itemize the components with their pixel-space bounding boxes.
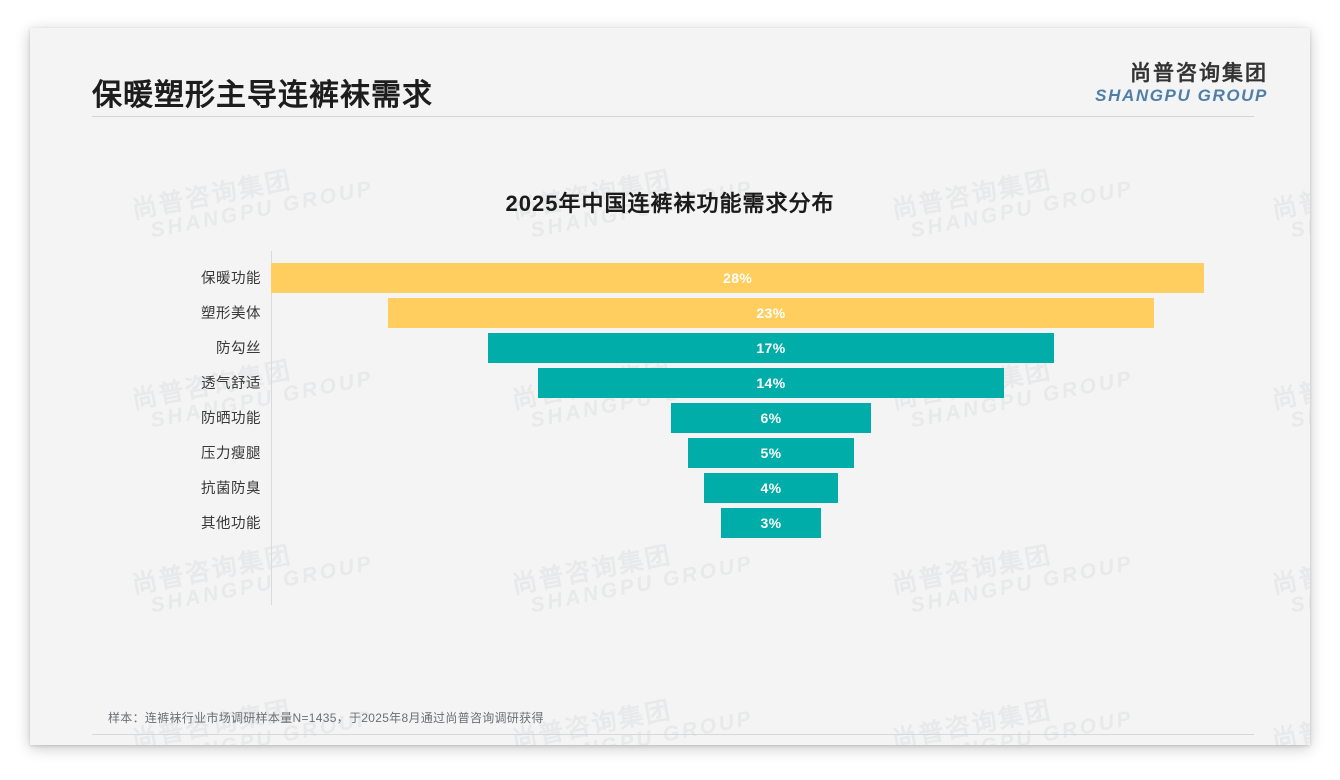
bar-track: 4% xyxy=(271,470,1271,505)
website-link[interactable]: www.shangpu-china.com xyxy=(1128,743,1268,745)
category-label: 防晒功能 xyxy=(30,407,261,428)
title-divider xyxy=(92,116,1254,117)
bar-track: 3% xyxy=(271,505,1271,540)
sample-footnote: 样本：连裤袜行业市场调研样本量N=1435，于2025年8月通过尚普咨询调研获得 xyxy=(108,709,544,726)
page-title: 保暖塑形主导连裤袜需求 xyxy=(92,70,433,114)
bar-track: 28% xyxy=(271,260,1271,295)
funnel-chart-plot: 保暖功能28%塑形美体23%防勾丝17%透气舒适14%防晒功能6%压力瘦腿5%抗… xyxy=(30,260,1310,560)
funnel-row: 防勾丝17% xyxy=(30,330,1310,365)
copyright-text: ©2025.10 SHANGPU GROUP xyxy=(92,743,261,745)
bar-value-label: 14% xyxy=(756,375,785,391)
category-label: 其他功能 xyxy=(30,512,261,533)
funnel-bar[interactable]: 6% xyxy=(671,403,871,433)
funnel-bar[interactable]: 17% xyxy=(488,333,1055,363)
chart-title: 2025年中国连裤袜功能需求分布 xyxy=(30,186,1310,218)
bar-track: 17% xyxy=(271,330,1271,365)
funnel-bar[interactable]: 28% xyxy=(271,263,1204,293)
category-label: 塑形美体 xyxy=(30,302,261,323)
funnel-row: 抗菌防臭4% xyxy=(30,470,1310,505)
bar-track: 14% xyxy=(271,365,1271,400)
funnel-row: 透气舒适14% xyxy=(30,365,1310,400)
chart-container: 2025年中国连裤袜功能需求分布 保暖功能28%塑形美体23%防勾丝17%透气舒… xyxy=(30,128,1310,658)
funnel-bar[interactable]: 14% xyxy=(538,368,1005,398)
bar-track: 5% xyxy=(271,435,1271,470)
funnel-row: 压力瘦腿5% xyxy=(30,435,1310,470)
funnel-bar[interactable]: 23% xyxy=(388,298,1155,328)
category-label: 压力瘦腿 xyxy=(30,442,261,463)
bar-track: 6% xyxy=(271,400,1271,435)
funnel-row: 塑形美体23% xyxy=(30,295,1310,330)
bar-value-label: 28% xyxy=(723,270,752,286)
funnel-bar[interactable]: 5% xyxy=(688,438,855,468)
bar-value-label: 4% xyxy=(760,480,781,496)
category-label: 防勾丝 xyxy=(30,337,261,358)
bar-value-label: 6% xyxy=(760,410,781,426)
logo-label-cn: 尚普咨询集团 xyxy=(1095,62,1268,86)
funnel-row: 保暖功能28% xyxy=(30,260,1310,295)
funnel-row: 防晒功能6% xyxy=(30,400,1310,435)
bar-value-label: 17% xyxy=(756,340,785,356)
bar-track: 23% xyxy=(271,295,1271,330)
funnel-bar[interactable]: 3% xyxy=(721,508,821,538)
slide-footer: ©2025.10 SHANGPU GROUP www.shangpu-china… xyxy=(30,735,1310,745)
bar-value-label: 23% xyxy=(756,305,785,321)
category-label: 抗菌防臭 xyxy=(30,477,261,498)
funnel-bar[interactable]: 4% xyxy=(704,473,837,503)
slide-header: 保暖塑形主导连裤袜需求 尚普咨询集团 SHANGPU GROUP xyxy=(30,28,1310,120)
slide-canvas: 尚普咨询集团SHANGPU GROUP尚普咨询集团SHANGPU GROUP尚普… xyxy=(30,28,1310,745)
logo-label-en: SHANGPU GROUP xyxy=(1095,86,1268,106)
funnel-row: 其他功能3% xyxy=(30,505,1310,540)
bar-value-label: 3% xyxy=(760,515,781,531)
category-label: 透气舒适 xyxy=(30,372,261,393)
bar-value-label: 5% xyxy=(760,445,781,461)
category-label: 保暖功能 xyxy=(30,267,261,288)
company-logo: 尚普咨询集团 SHANGPU GROUP xyxy=(1095,62,1268,106)
